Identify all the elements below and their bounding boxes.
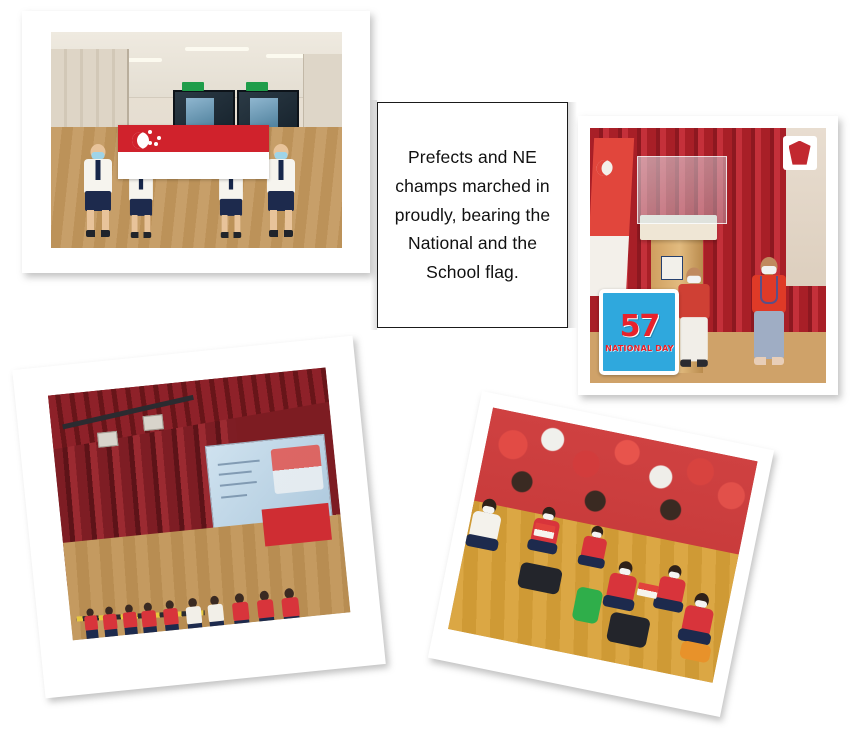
caption-panel-left-shadow	[370, 100, 377, 330]
collage-canvas: Prefects and NE champs marched in proudl…	[0, 0, 863, 755]
caption-panel: Prefects and NE champs marched in proudl…	[377, 102, 568, 328]
photo-image-hall-performance	[48, 367, 350, 640]
school-crest-icon	[783, 136, 817, 170]
photo-image-seated-assembly	[448, 408, 758, 683]
photo-frame-flag-march[interactable]	[22, 11, 370, 273]
caption-panel-right-shadow	[568, 102, 577, 328]
photo-frame-podium-ceremony[interactable]: 57 NATIONAL DAY	[578, 116, 838, 395]
photo-image-flag-march	[51, 32, 342, 248]
sticker-label: NATIONAL DAY	[605, 344, 674, 353]
photo-image-podium-ceremony: 57 NATIONAL DAY	[590, 128, 826, 383]
national-day-57-sticker: 57 NATIONAL DAY	[599, 289, 679, 375]
photo-frame-seated-assembly[interactable]	[428, 391, 774, 717]
sticker-number: 57	[620, 312, 660, 342]
photo-frame-hall-performance[interactable]	[12, 336, 386, 699]
caption-text: Prefects and NE champs marched in proudl…	[390, 143, 555, 287]
